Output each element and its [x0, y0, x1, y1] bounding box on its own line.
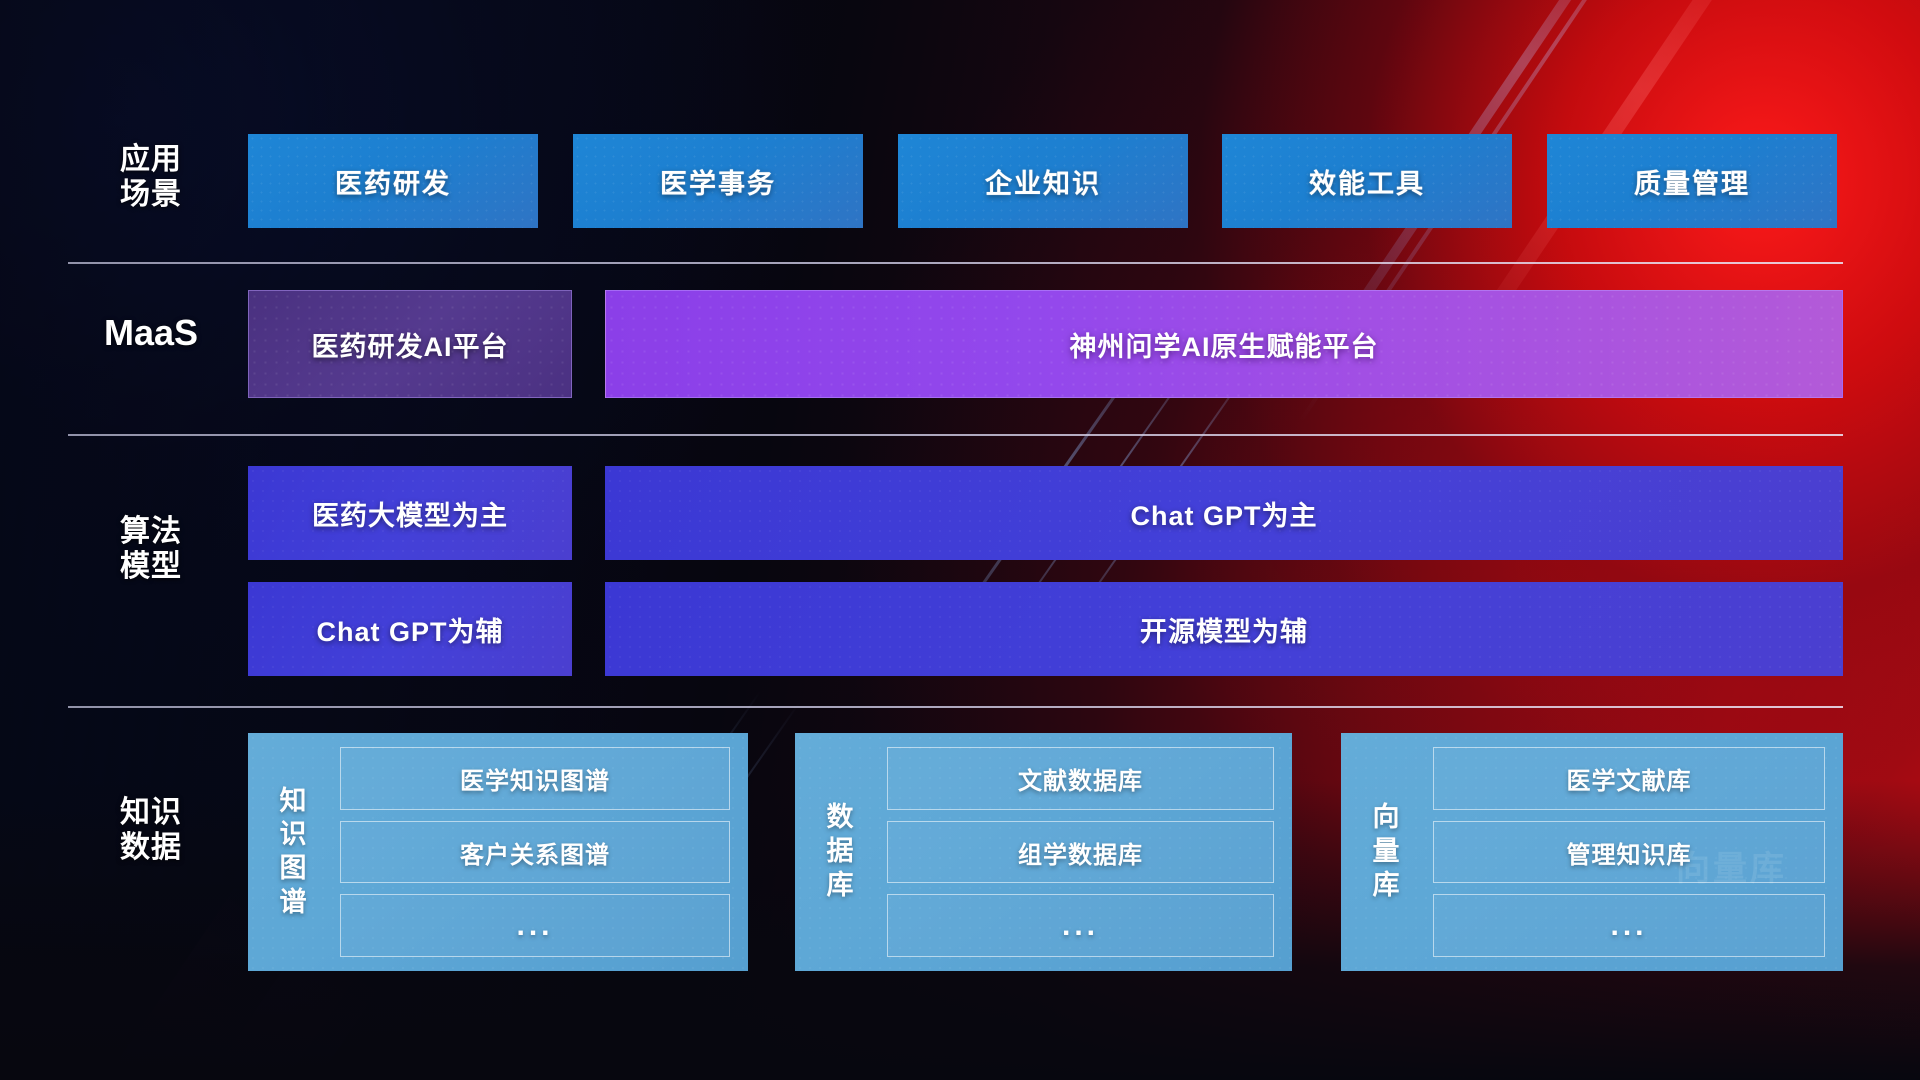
- knowledge-card-items: 医学文献库 管理知识库 ...: [1433, 747, 1825, 957]
- app-box-label: 医学事务: [660, 162, 776, 201]
- maas-box-label: 医药研发AI平台: [312, 325, 509, 364]
- row-maas: MaaS 医药研发AI平台 神州问学AI原生赋能平台: [0, 290, 1920, 398]
- app-box-label: 医药研发: [335, 162, 451, 201]
- row-label-knowledge-data: 知识 数据: [86, 795, 216, 866]
- knowledge-card-items: 医学知识图谱 客户关系图谱 ...: [340, 747, 730, 957]
- maas-box-drug-rd-ai-platform[interactable]: 医药研发AI平台: [248, 290, 572, 398]
- knowledge-card-vertical-label: 向 量 库: [1355, 747, 1417, 957]
- divider-after-applications: [68, 262, 1843, 264]
- knowledge-item-more[interactable]: ...: [1433, 894, 1825, 957]
- app-box-medical-affairs[interactable]: 医学事务: [573, 134, 863, 228]
- knowledge-item-more[interactable]: ...: [340, 894, 730, 957]
- row-application-scenarios: 应用 场景 医药研发 医学事务 企业知识 效能工具 质量管理: [0, 134, 1920, 228]
- app-box-label: 质量管理: [1634, 162, 1750, 201]
- maas-box-shenzhou-wenxue-platform[interactable]: 神州问学AI原生赋能平台: [605, 290, 1843, 398]
- algo-box-chatgpt-primary[interactable]: Chat GPT为主: [605, 466, 1843, 560]
- app-box-label: 企业知识: [985, 162, 1101, 201]
- knowledge-card-database[interactable]: 数 据 库 文献数据库 组学数据库 ...: [795, 733, 1292, 971]
- algo-box-opensource-secondary[interactable]: 开源模型为辅: [605, 582, 1843, 676]
- divider-after-algorithms: [68, 706, 1843, 708]
- algo-box-chatgpt-secondary[interactable]: Chat GPT为辅: [248, 582, 572, 676]
- app-box-efficiency-tools[interactable]: 效能工具: [1222, 134, 1512, 228]
- algo-box-label: 开源模型为辅: [1140, 610, 1308, 649]
- knowledge-item-more[interactable]: ...: [887, 894, 1274, 957]
- knowledge-card-knowledge-graph[interactable]: 知 识 图 谱 医学知识图谱 客户关系图谱 ...: [248, 733, 748, 971]
- knowledge-item-omics-database[interactable]: 组学数据库: [887, 821, 1274, 884]
- knowledge-card-items: 文献数据库 组学数据库 ...: [887, 747, 1274, 957]
- app-box-quality-management[interactable]: 质量管理: [1547, 134, 1837, 228]
- app-box-label: 效能工具: [1309, 162, 1425, 201]
- algo-box-drug-large-model-primary[interactable]: 医药大模型为主: [248, 466, 572, 560]
- row-knowledge-data: 知识 数据 知 识 图 谱 医学知识图谱 客户关系图谱 ... 数 据 库 文献…: [0, 733, 1920, 971]
- knowledge-card-vertical-label: 知 识 图 谱: [262, 747, 324, 957]
- app-box-enterprise-knowledge[interactable]: 企业知识: [898, 134, 1188, 228]
- row-label-algorithm-models: 算法 模型: [86, 514, 216, 585]
- algo-box-label: Chat GPT为主: [1130, 494, 1317, 533]
- knowledge-item-medical-literature-library[interactable]: 医学文献库: [1433, 747, 1825, 810]
- row-label-application-scenarios: 应用 场景: [86, 142, 216, 213]
- knowledge-item-medical-knowledge-graph[interactable]: 医学知识图谱: [340, 747, 730, 810]
- app-box-drug-rd[interactable]: 医药研发: [248, 134, 538, 228]
- maas-box-label: 神州问学AI原生赋能平台: [1070, 325, 1379, 364]
- knowledge-item-customer-relation-graph[interactable]: 客户关系图谱: [340, 821, 730, 884]
- slide-canvas: 应用 场景 医药研发 医学事务 企业知识 效能工具 质量管理 MaaS 医药研发…: [0, 0, 1920, 1080]
- divider-after-maas: [68, 434, 1843, 436]
- algo-box-label: 医药大模型为主: [312, 494, 508, 533]
- row-label-maas: MaaS: [86, 312, 216, 354]
- knowledge-card-vertical-label: 数 据 库: [809, 747, 871, 957]
- row-algorithm-models: 算法 模型 医药大模型为主 Chat GPT为辅 Chat GPT为主 开源模型…: [0, 466, 1920, 682]
- knowledge-item-literature-database[interactable]: 文献数据库: [887, 747, 1274, 810]
- knowledge-card-vector-database[interactable]: 向 量 库 向量库 医学文献库 管理知识库 ...: [1341, 733, 1843, 971]
- algo-box-label: Chat GPT为辅: [316, 610, 503, 649]
- knowledge-item-management-knowledge-base[interactable]: 管理知识库: [1433, 821, 1825, 884]
